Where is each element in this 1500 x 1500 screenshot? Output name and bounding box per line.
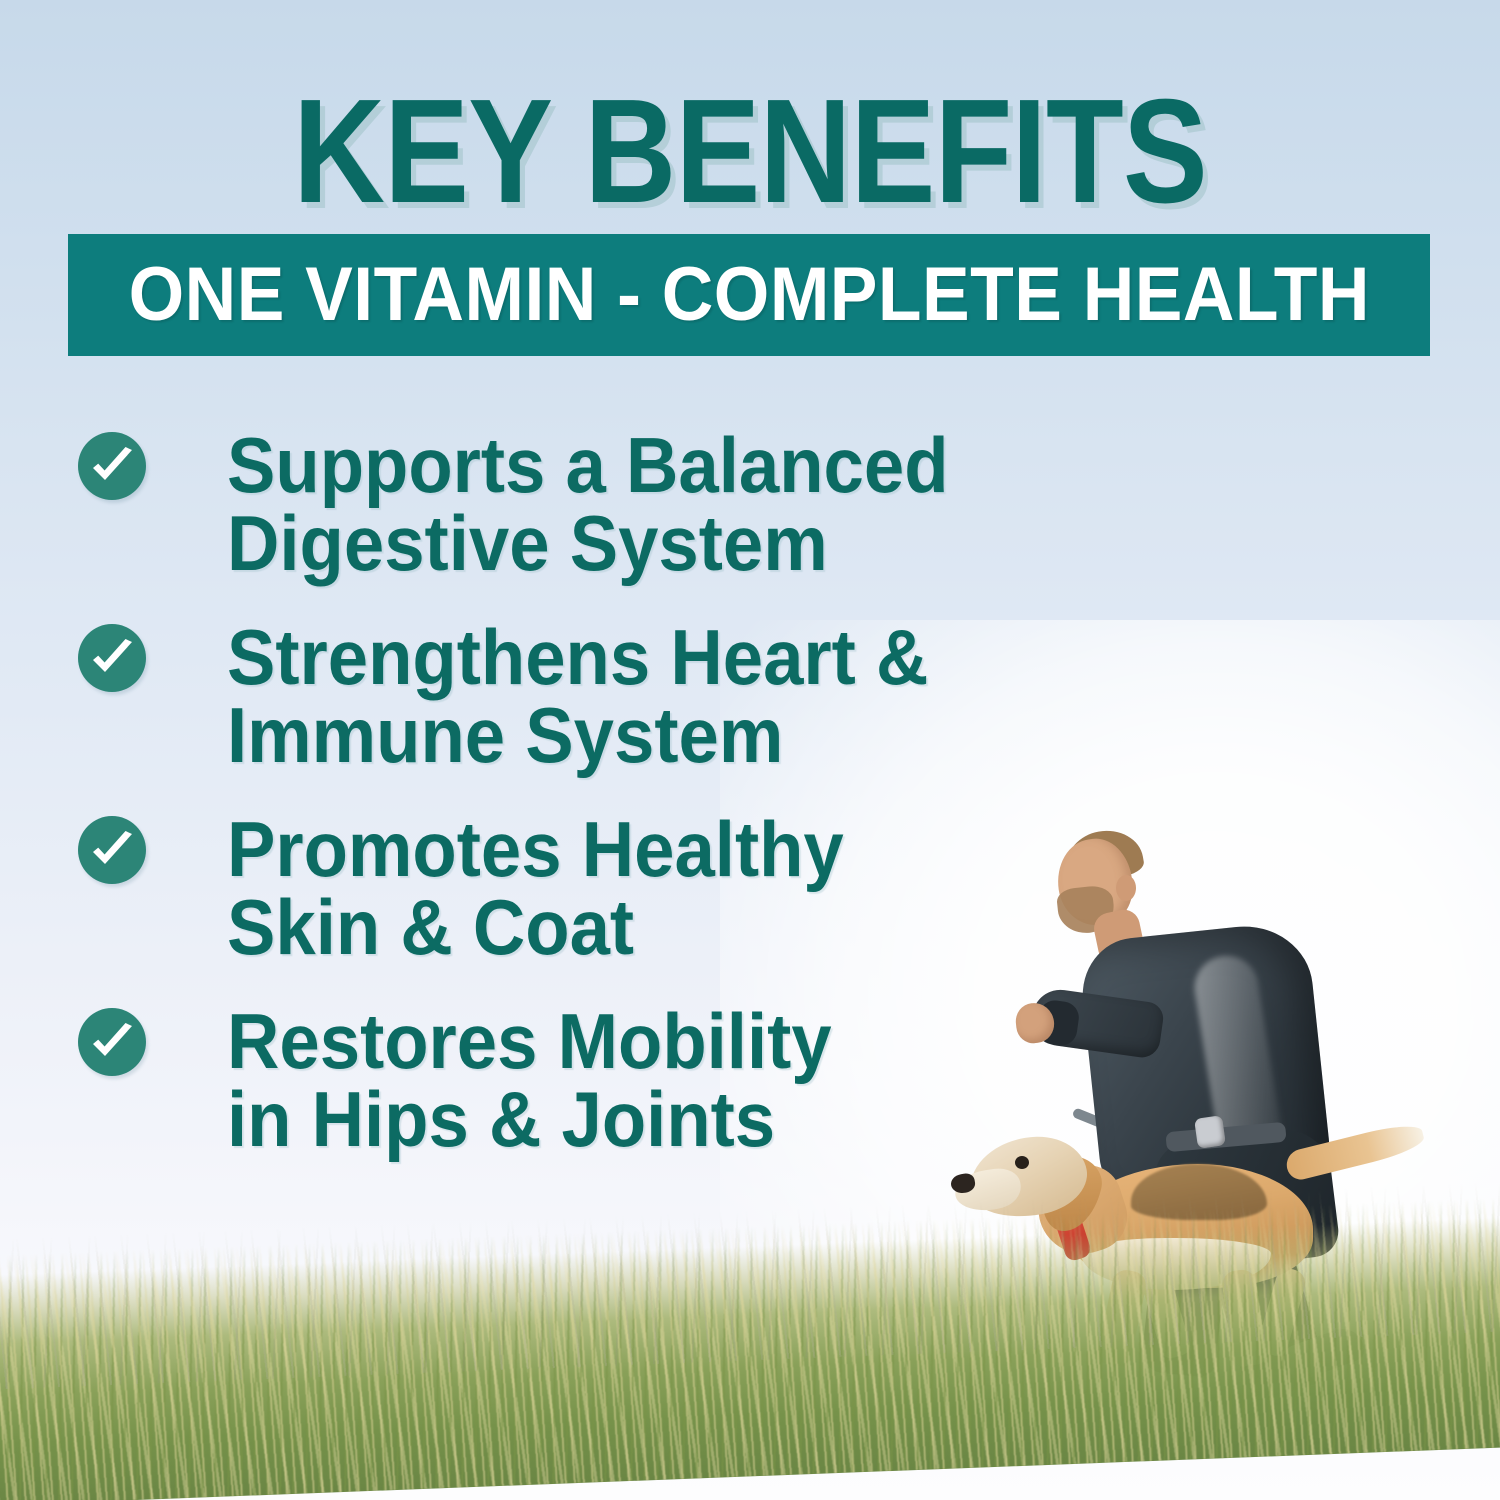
benefit-item-1: Supports a Balanced Digestive System <box>0 426 1030 582</box>
benefit-item-2: Strengthens Heart & Immune System <box>0 618 1030 774</box>
benefit-item-4: Restores Mobility in Hips & Joints <box>0 1002 1030 1158</box>
benefit-label: Supports a Balanced Digestive System <box>227 426 949 582</box>
check-icon <box>78 1008 146 1076</box>
benefit-item-3: Promotes Healthy Skin & Coat <box>0 810 1030 966</box>
benefit-label: Strengthens Heart & Immune System <box>227 618 928 774</box>
benefits-list: Supports a Balanced Digestive System Str… <box>0 426 1030 1194</box>
check-icon <box>78 816 146 884</box>
tagline-banner: ONE VITAMIN - COMPLETE HEALTH <box>68 234 1430 356</box>
benefit-label: Promotes Healthy Skin & Coat <box>227 810 844 966</box>
key-benefits-poster: KEY BENEFITS ONE VITAMIN - COMPLETE HEAL… <box>0 0 1500 1500</box>
tagline-text: ONE VITAMIN - COMPLETE HEALTH <box>128 257 1369 333</box>
runner-ear <box>1116 875 1136 901</box>
check-icon <box>78 624 146 692</box>
page-title: KEY BENEFITS <box>105 78 1395 226</box>
dog-tail <box>1283 1120 1426 1183</box>
check-icon <box>78 432 146 500</box>
benefit-label: Restores Mobility in Hips & Joints <box>227 1002 832 1158</box>
